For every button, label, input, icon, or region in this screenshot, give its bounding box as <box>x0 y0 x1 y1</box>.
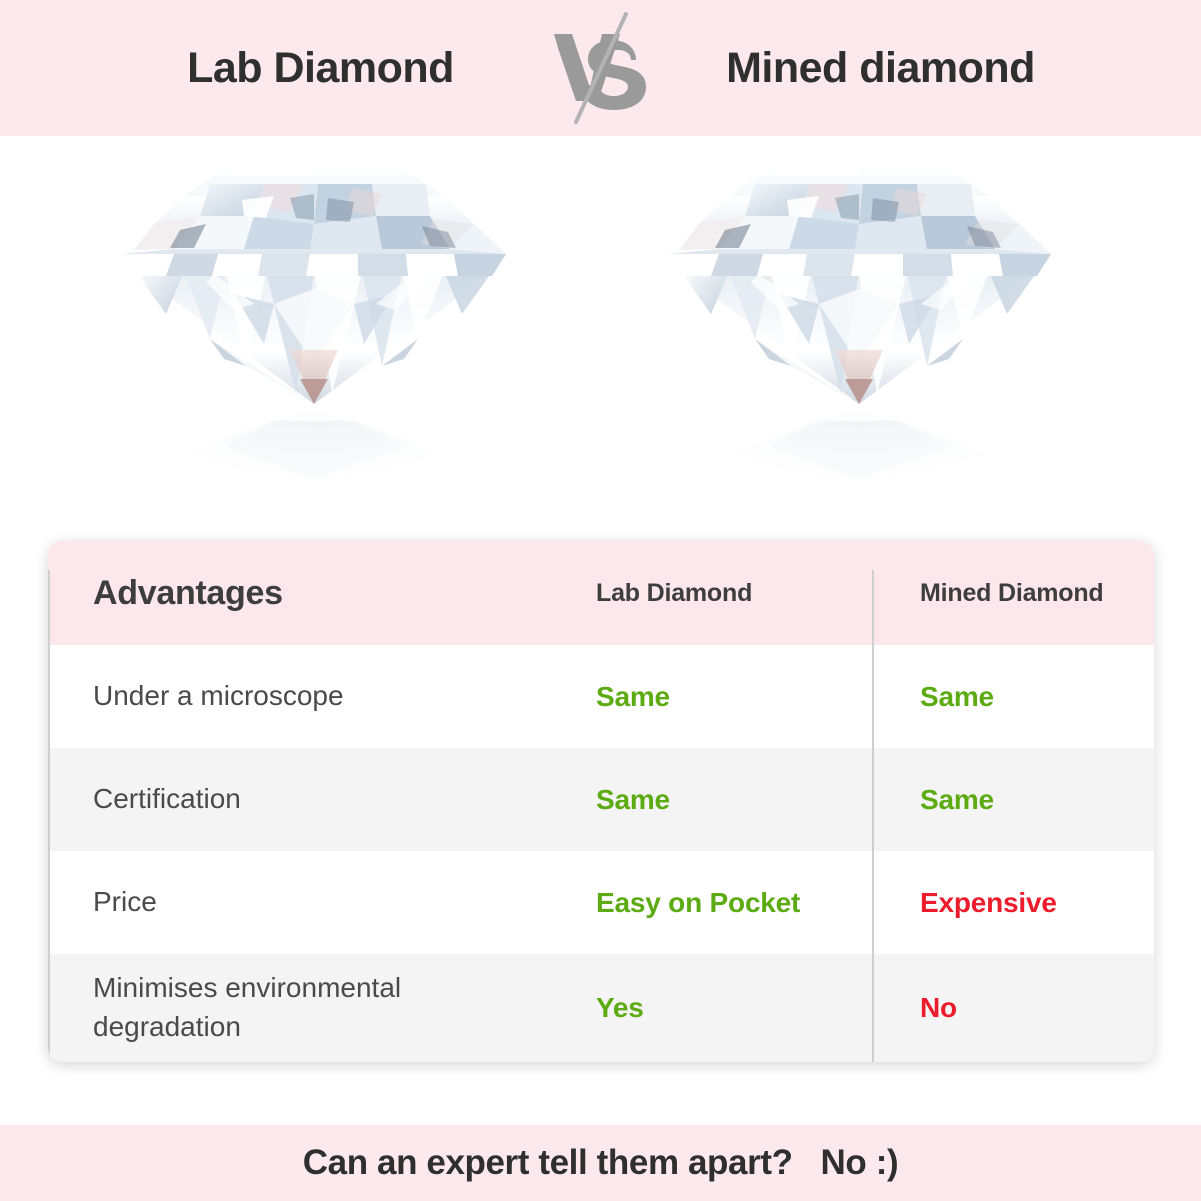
cell-mined-value: Expensive <box>872 887 1154 919</box>
header-cell-feature: Advantages <box>48 574 541 613</box>
header-label-lab-diamond: Lab Diamond <box>596 579 752 607</box>
header-label-advantages: Advantages <box>93 574 283 612</box>
table-row: Under a microscope Same Same <box>48 645 1154 748</box>
cell-feature: Certification <box>48 780 541 819</box>
header-inner: Lab Diamond Mined diamond <box>0 8 1201 128</box>
lab-value: Same <box>596 784 670 815</box>
diamond-illustration-icon <box>659 154 1059 524</box>
feature-label: Certification <box>93 783 241 814</box>
comparison-table: Advantages Lab Diamond Mined Diamond Und… <box>48 541 1154 1062</box>
mined-value: Same <box>920 681 994 712</box>
table-row: Certification Same Same <box>48 748 1154 851</box>
feature-label: Price <box>93 886 157 917</box>
feature-label: Minimises environmental degradation <box>93 972 401 1042</box>
cell-mined-value: Same <box>872 784 1154 816</box>
diamond-illustration-icon <box>114 154 514 524</box>
column-divider-1 <box>48 570 50 1062</box>
feature-label: Under a microscope <box>93 680 344 711</box>
mined-value: Expensive <box>920 887 1057 918</box>
mined-value: No <box>920 992 957 1023</box>
cell-feature: Minimises environmental degradation <box>48 969 541 1046</box>
lab-value: Yes <box>596 992 644 1023</box>
table-row: Minimises environmental degradation Yes … <box>48 954 1154 1062</box>
mined-value: Same <box>920 784 994 815</box>
vs-icon <box>536 8 666 128</box>
table-header-row: Advantages Lab Diamond Mined Diamond <box>48 541 1154 645</box>
header-right-title-wrap: Mined diamond <box>666 44 1096 93</box>
cell-lab-value: Easy on Pocket <box>541 887 872 919</box>
header-band: Lab Diamond Mined diamond <box>0 0 1201 136</box>
diamond-images-area <box>0 136 1201 531</box>
cell-lab-value: Yes <box>541 992 872 1024</box>
mined-diamond-image <box>659 154 1059 524</box>
lab-diamond-image <box>114 154 514 524</box>
header-cell-lab: Lab Diamond <box>541 579 872 608</box>
column-divider-2 <box>872 570 874 1062</box>
header-right-title: Mined diamond <box>726 44 1035 92</box>
header-left-title: Lab Diamond <box>187 44 454 92</box>
lab-value: Easy on Pocket <box>596 887 800 918</box>
vs-badge <box>536 8 666 128</box>
cell-feature: Price <box>48 883 541 922</box>
footer-question: Can an expert tell them apart? No :) <box>303 1143 898 1183</box>
lab-value: Same <box>596 681 670 712</box>
cell-lab-value: Same <box>541 784 872 816</box>
header-left-title-wrap: Lab Diamond <box>106 44 536 93</box>
cell-mined-value: Same <box>872 681 1154 713</box>
footer-band: Can an expert tell them apart? No :) <box>0 1125 1201 1201</box>
cell-lab-value: Same <box>541 681 872 713</box>
cell-mined-value: No <box>872 992 1154 1024</box>
header-cell-mined: Mined Diamond <box>872 579 1154 608</box>
cell-feature: Under a microscope <box>48 677 541 716</box>
table-row: Price Easy on Pocket Expensive <box>48 851 1154 954</box>
header-label-mined-diamond: Mined Diamond <box>920 579 1104 607</box>
